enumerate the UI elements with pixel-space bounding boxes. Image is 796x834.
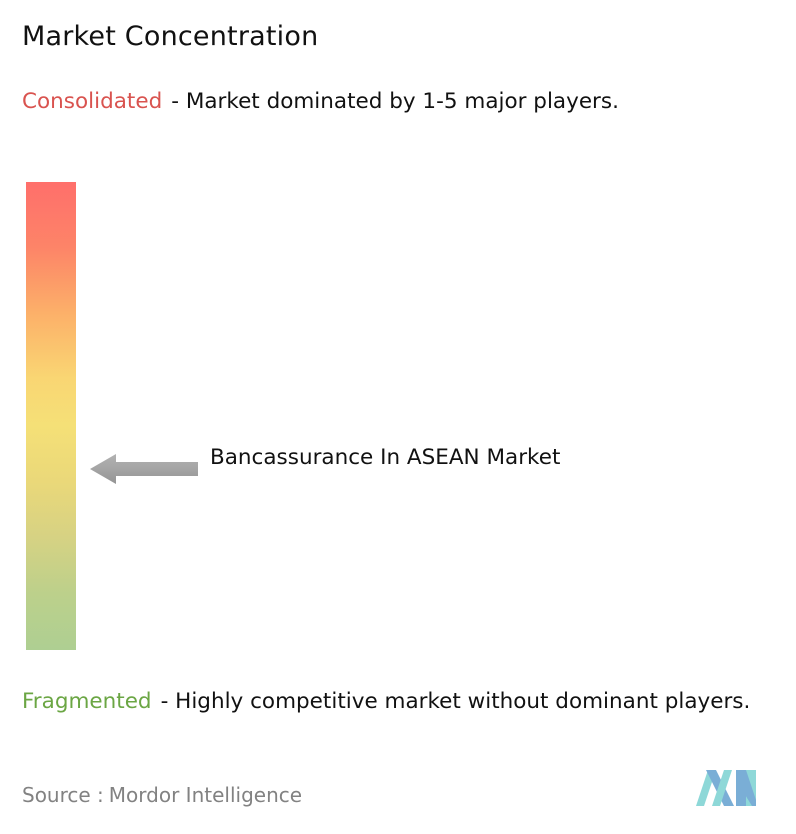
concentration-gradient-bar (26, 182, 76, 650)
legend-term-consolidated: Consolidated (22, 89, 162, 114)
page-title: Market Concentration (22, 20, 318, 54)
legend-description-consolidated: - Market dominated by 1-5 major players. (171, 89, 619, 114)
legend-fragmented: Fragmented- Highly competitive market wi… (22, 686, 782, 717)
arrow-left-icon (90, 452, 198, 486)
legend-description-fragmented: - Highly competitive market without domi… (161, 689, 751, 714)
legend-consolidated: Consolidated- Market dominated by 1-5 ma… (22, 86, 782, 117)
legend-term-fragmented: Fragmented (22, 689, 152, 714)
source-attribution: Source :Mordor Intelligence (22, 782, 302, 808)
market-concentration-chart: Market Concentration Consolidated- Marke… (0, 0, 796, 834)
source-label: Source : (22, 783, 104, 807)
logo-mark-icon (694, 766, 760, 810)
mordor-intelligence-logo (694, 766, 760, 810)
source-value: Mordor Intelligence (109, 783, 302, 807)
marker-arrow (90, 452, 198, 486)
marker-label: Bancassurance In ASEAN Market (210, 441, 630, 475)
